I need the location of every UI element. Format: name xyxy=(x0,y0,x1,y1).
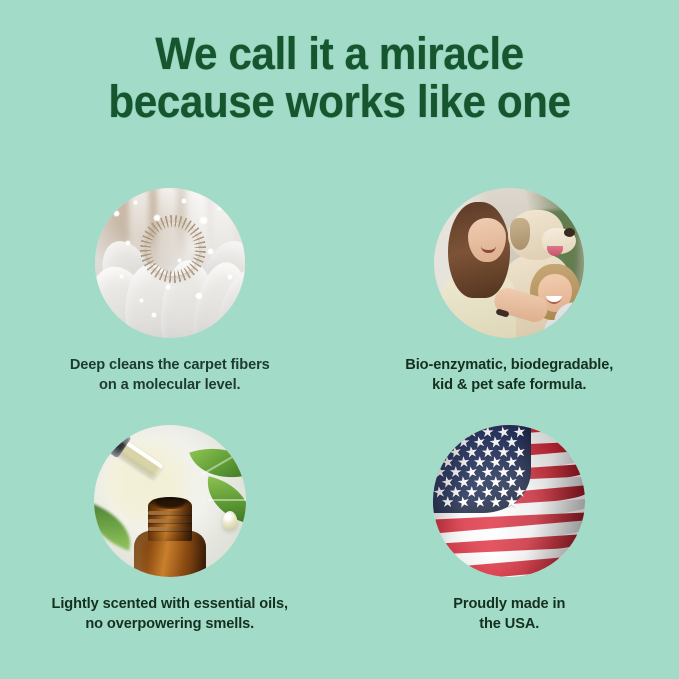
feature-grid: Deep cleans the carpet fibers on a molec… xyxy=(0,188,679,662)
carpet-fibers-macro-photo xyxy=(95,188,245,338)
flag-star-icon: ★ xyxy=(489,495,503,511)
feature-kid-pet-safe: Bio-enzymatic, biodegradable, kid & pet … xyxy=(340,188,679,425)
headline-line-2: because works like one xyxy=(20,78,658,126)
family-with-dog-photo xyxy=(434,188,584,338)
feature-caption: Deep cleans the carpet fibers on a molec… xyxy=(70,355,270,395)
feature-caption: Proudly made in the USA. xyxy=(453,594,565,634)
headline-line-1: We call it a miracle xyxy=(20,30,658,78)
feature-made-in-usa: ★★★★★★★★★★★★★★★★★★★★★★★★★★★★★★★★★★★★★★★★… xyxy=(340,425,679,662)
feature-caption: Lightly scented with essential oils, no … xyxy=(52,594,288,634)
feature-caption: Bio-enzymatic, biodegradable, kid & pet … xyxy=(405,355,613,395)
feature-essential-oils: Lightly scented with essential oils, no … xyxy=(0,425,340,662)
flag-star-icon: ★ xyxy=(505,495,519,510)
flag-star-icon: ★ xyxy=(472,494,488,511)
feature-deep-clean: Deep cleans the carpet fibers on a molec… xyxy=(0,188,340,425)
product-benefits-infographic: We call it a miracle because works like … xyxy=(0,0,679,679)
usa-flag-photo: ★★★★★★★★★★★★★★★★★★★★★★★★★★★★★★★★★★★★★★★★… xyxy=(433,425,585,577)
flag-star-icon: ★ xyxy=(441,495,455,510)
page-title: We call it a miracle because works like … xyxy=(0,0,679,125)
essential-oil-bottle-photo xyxy=(94,425,246,577)
